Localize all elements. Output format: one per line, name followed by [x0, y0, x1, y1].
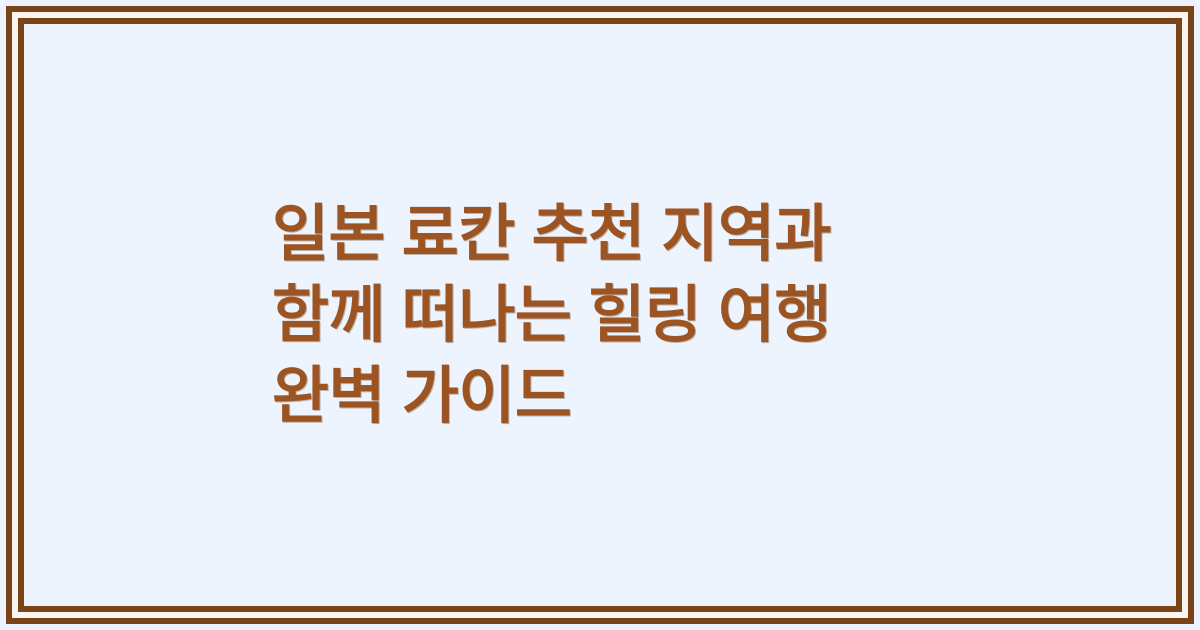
content-area: 일본 료칸 추천 지역과 함께 떠나는 힐링 여행 완벽 가이드 [24, 24, 1176, 606]
title-line-1: 일본 료칸 추천 지역과 [272, 194, 944, 275]
title-line-3: 완벽 가이드 [272, 356, 944, 437]
title-line-2: 함께 떠나는 힐링 여행 [272, 275, 944, 356]
page-title: 일본 료칸 추천 지역과 함께 떠나는 힐링 여행 완벽 가이드 [272, 194, 944, 437]
thumbnail-card: 일본 료칸 추천 지역과 함께 떠나는 힐링 여행 완벽 가이드 [0, 0, 1200, 630]
